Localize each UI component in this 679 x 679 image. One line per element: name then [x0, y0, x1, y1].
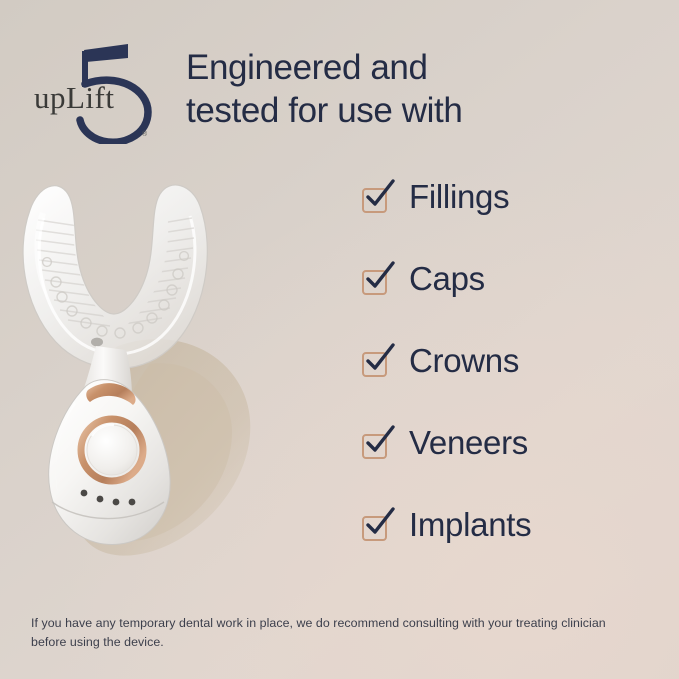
list-item-label: Fillings: [409, 180, 509, 214]
product-image: [0, 150, 340, 570]
svg-text:upLift: upLift: [34, 80, 115, 115]
page-title: Engineered and tested for use with: [186, 47, 566, 132]
list-item-label: Implants: [409, 508, 531, 542]
power-button: [81, 419, 143, 481]
headline-line-2: tested for use with: [186, 90, 566, 133]
list-item: Crowns: [362, 344, 652, 426]
list-item-label: Caps: [409, 262, 485, 296]
list-item-label: Veneers: [409, 426, 528, 460]
checkbox-checked-icon: [362, 185, 392, 215]
list-item: Caps: [362, 262, 652, 344]
checkbox-checked-icon: [362, 513, 392, 543]
list-item: Veneers: [362, 426, 652, 508]
silicone-mouthpiece-tray: [23, 185, 207, 369]
disclaimer-text: If you have any temporary dental work in…: [31, 614, 643, 652]
checkbox-checked-icon: [362, 267, 392, 297]
list-item-label: Crowns: [409, 344, 519, 378]
checkbox-checked-icon: [362, 349, 392, 379]
headline-line-1: Engineered and: [186, 47, 566, 90]
brand-logo: upLift ®: [24, 32, 174, 144]
checkbox-checked-icon: [362, 431, 392, 461]
list-item: Implants: [362, 508, 652, 590]
svg-text:®: ®: [142, 130, 148, 138]
marketing-image-canvas: upLift ® Engineered and tested for use w…: [0, 0, 679, 679]
compatibility-checklist: Fillings Caps: [362, 180, 652, 590]
list-item: Fillings: [362, 180, 652, 262]
